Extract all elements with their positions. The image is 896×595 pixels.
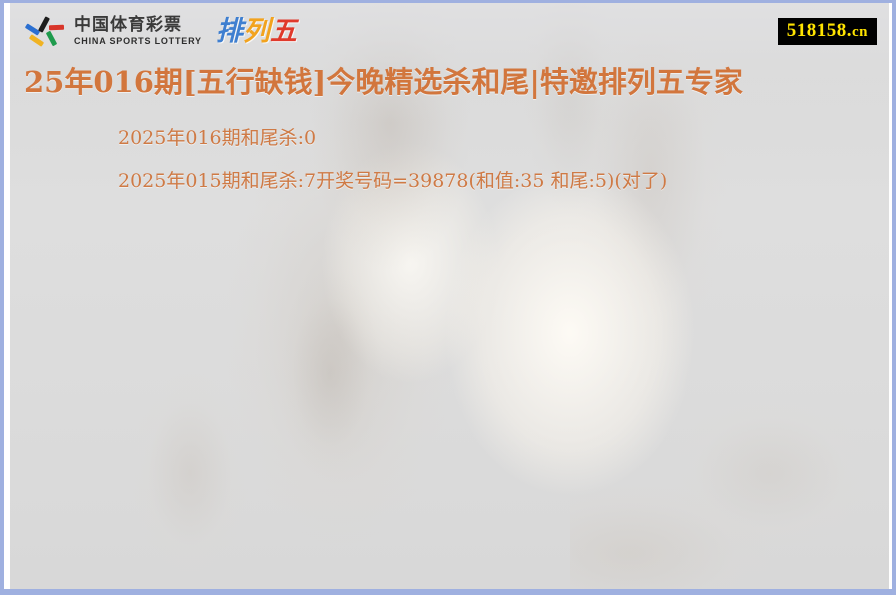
page-title: 25年016期[五行缺钱]今晚精选杀和尾|特邀排列五专家 — [10, 63, 889, 101]
brand-name-cn: 中国体育彩票 — [74, 17, 202, 34]
pailiewu-wordmark: 排列五 — [216, 18, 297, 45]
page-frame: 中国体育彩票 CHINA SPORTS LOTTERY 排列五 518158.c… — [0, 0, 896, 595]
site-header: 中国体育彩票 CHINA SPORTS LOTTERY 排列五 518158.c… — [10, 3, 889, 59]
prediction-line-previous: 2025年015期和尾杀:7开奖号码=39878(和值:35 和尾:5)(对了) — [118, 168, 889, 194]
china-sports-lottery-mark-icon — [24, 14, 66, 48]
brand-logo[interactable]: 中国体育彩票 CHINA SPORTS LOTTERY 排列五 — [24, 14, 297, 48]
page-inner: 中国体育彩票 CHINA SPORTS LOTTERY 排列五 518158.c… — [4, 3, 892, 589]
prediction-content: 2025年016期和尾杀:0 2025年015期和尾杀:7开奖号码=39878(… — [10, 101, 889, 194]
wordmark-char-2: 列 — [243, 18, 270, 45]
prediction-line-current: 2025年016期和尾杀:0 — [118, 125, 889, 151]
wordmark-char-1: 排 — [216, 18, 243, 45]
wordmark-char-3: 五 — [270, 18, 297, 45]
background-swoosh — [570, 383, 889, 589]
site-domain-badge[interactable]: 518158.cn — [778, 18, 877, 45]
site-domain-tld: cn — [852, 24, 868, 40]
brand-name-en: CHINA SPORTS LOTTERY — [74, 37, 202, 46]
brand-text: 中国体育彩票 CHINA SPORTS LOTTERY — [74, 17, 202, 46]
site-domain-text: 518158. — [787, 20, 852, 41]
